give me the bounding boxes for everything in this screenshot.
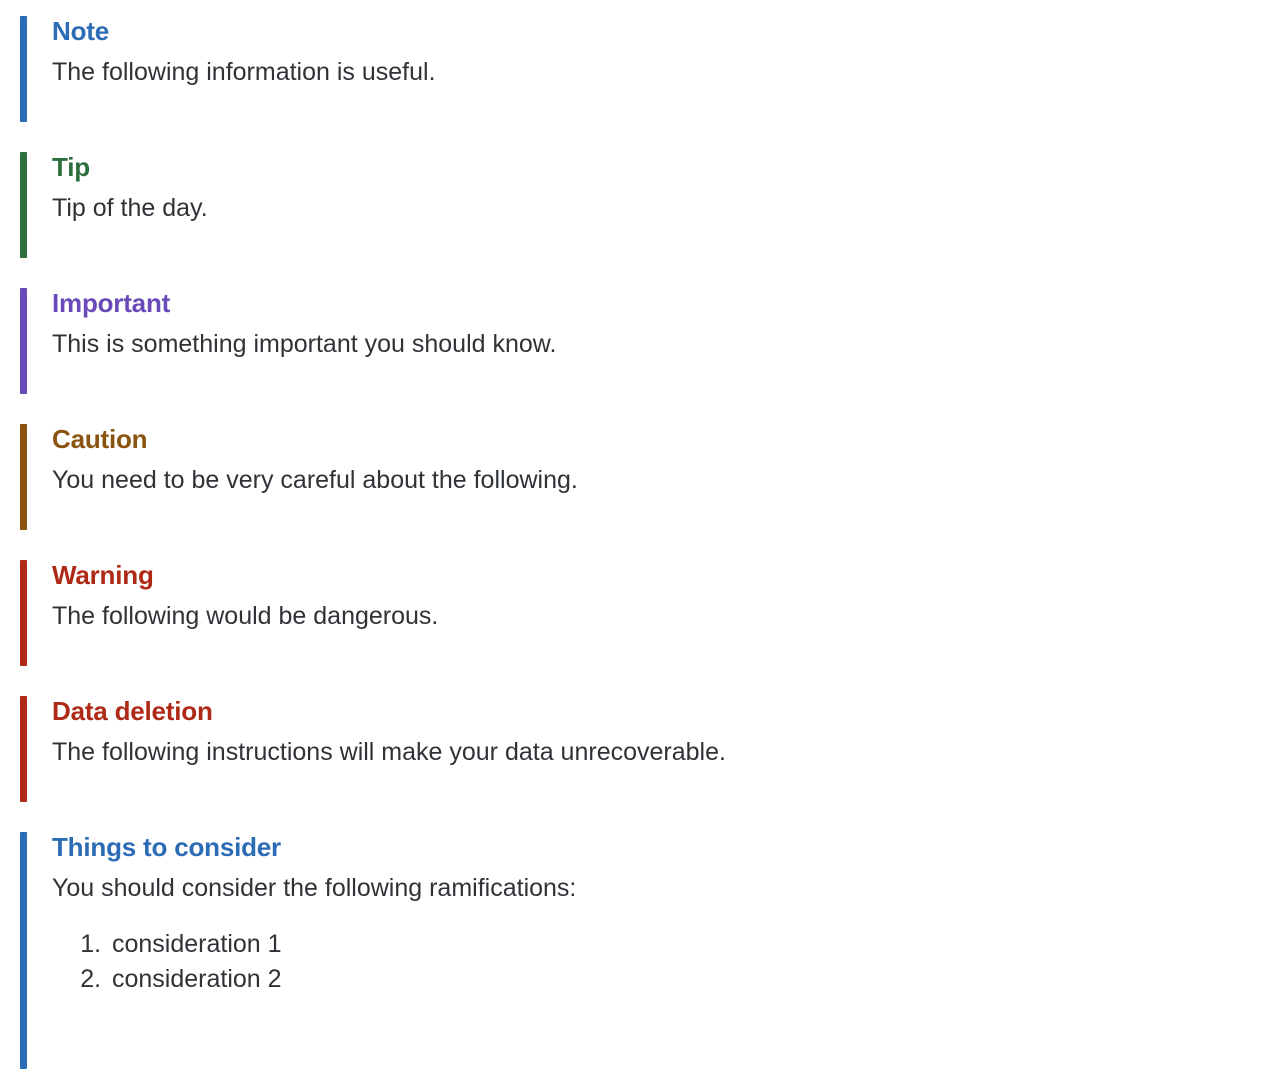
alert-body-text: The following information is useful. — [52, 56, 1272, 89]
alert-accent-bar-icon — [20, 16, 27, 122]
document-page: NoteThe following information is useful.… — [0, 0, 1272, 1084]
alert-tip: TipTip of the day. — [20, 152, 1272, 258]
alert-body-text: The following would be dangerous. — [52, 600, 1272, 633]
alert-body-text: The following instructions will make you… — [52, 736, 1272, 769]
list-item: consideration 1 — [108, 927, 1272, 963]
alert-body-text: You should consider the following ramifi… — [52, 872, 1272, 905]
alert-accent-bar-icon — [20, 696, 27, 802]
alert-important: ImportantThis is something important you… — [20, 288, 1272, 394]
alert-danger: Data deletionThe following instructions … — [20, 696, 1272, 802]
alert-accent-bar-icon — [20, 288, 27, 394]
alert-accent-bar-icon — [20, 560, 27, 666]
alert-body-text: This is something important you should k… — [52, 328, 1272, 361]
alert-note: NoteThe following information is useful. — [20, 16, 1272, 122]
alert-title: Data deletion — [52, 696, 1272, 728]
alert-ordered-list: consideration 1consideration 2 — [52, 927, 1272, 998]
alert-caution: CautionYou need to be very careful about… — [20, 424, 1272, 530]
alert-title: Warning — [52, 560, 1272, 592]
alert-accent-bar-icon — [20, 832, 27, 1069]
alert-warning: WarningThe following would be dangerous. — [20, 560, 1272, 666]
alert-accent-bar-icon — [20, 152, 27, 258]
alert-title: Caution — [52, 424, 1272, 456]
alert-title: Important — [52, 288, 1272, 320]
alert-title: Tip — [52, 152, 1272, 184]
alert-consider: Things to considerYou should consider th… — [20, 832, 1272, 1069]
list-item: consideration 2 — [108, 962, 1272, 998]
alert-body-text: You need to be very careful about the fo… — [52, 464, 1272, 497]
alert-title: Note — [52, 16, 1272, 48]
alert-title: Things to consider — [52, 832, 1272, 864]
alert-body-text: Tip of the day. — [52, 192, 1272, 225]
alert-list-container: NoteThe following information is useful.… — [0, 0, 1272, 1069]
alert-accent-bar-icon — [20, 424, 27, 530]
